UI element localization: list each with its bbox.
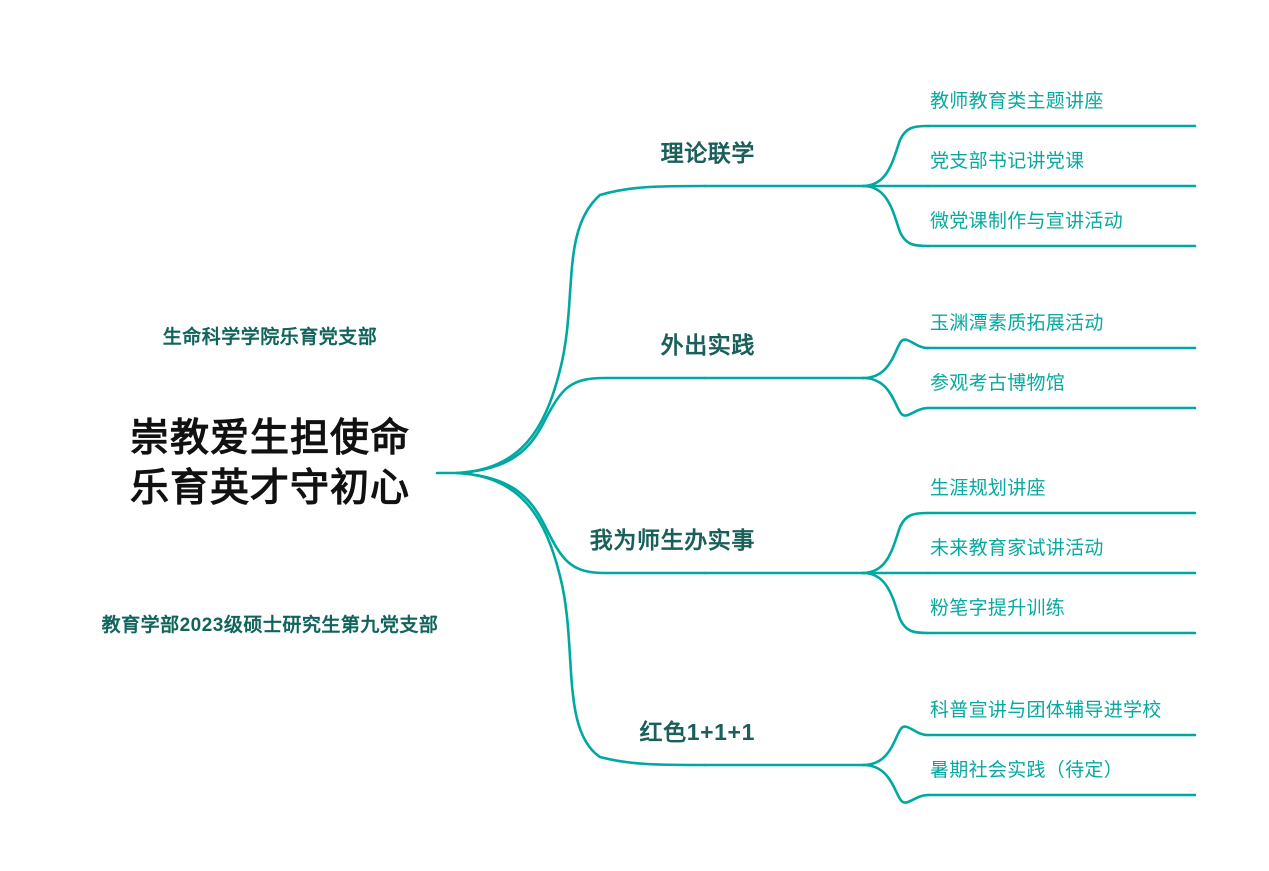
branch-label-1-text: 理论联学 bbox=[661, 140, 755, 166]
leaf-label-4-2[interactable]: 暑期社会实践（待定） bbox=[930, 755, 1123, 782]
branch-label-2[interactable]: 外出实践 bbox=[485, 326, 755, 360]
subtitle-top-text: 生命科学学院乐育党支部 bbox=[163, 327, 378, 348]
mindmap-canvas: 生命科学学院乐育党支部 崇教爱生担使命 乐育英才守初心 教育学部2023级硕士研… bbox=[0, 0, 1269, 871]
branch-label-4-text: 红色1+1+1 bbox=[640, 719, 755, 745]
edge-branch-2-leaf-1 bbox=[863, 340, 928, 378]
leaf-label-2-1-text: 玉渊潭素质拓展活动 bbox=[930, 313, 1104, 334]
branch-label-3[interactable]: 我为师生办实事 bbox=[485, 521, 755, 555]
root-title-line-2: 乐育英才守初心 bbox=[100, 464, 440, 514]
leaf-label-3-3-text: 粉笔字提升训练 bbox=[930, 598, 1065, 619]
edge-branch-3-leaf-3 bbox=[863, 573, 928, 633]
edge-branch-4-leaf-1 bbox=[863, 727, 928, 765]
leaf-label-1-3[interactable]: 微党课制作与宣讲活动 bbox=[930, 206, 1123, 233]
branch-label-1[interactable]: 理论联学 bbox=[485, 134, 755, 168]
edge-branch-1-leaf-1 bbox=[863, 126, 928, 186]
leaf-label-2-2-text: 参观考古博物馆 bbox=[930, 373, 1065, 394]
leaf-label-2-2[interactable]: 参观考古博物馆 bbox=[930, 368, 1065, 395]
edge-branch-1-leaf-3 bbox=[863, 186, 928, 246]
leaf-label-2-1[interactable]: 玉渊潭素质拓展活动 bbox=[930, 308, 1104, 335]
root-title: 崇教爱生担使命 乐育英才守初心 bbox=[100, 414, 440, 514]
subtitle-bottom: 教育学部2023级硕士研究生第九党支部 bbox=[80, 610, 460, 637]
edge-branch-2-leaf-2 bbox=[863, 378, 928, 416]
leaf-label-3-2-text: 未来教育家试讲活动 bbox=[930, 538, 1104, 559]
leaf-label-3-2[interactable]: 未来教育家试讲活动 bbox=[930, 533, 1104, 560]
branch-label-2-text: 外出实践 bbox=[661, 332, 755, 358]
leaf-label-1-1-text: 教师教育类主题讲座 bbox=[930, 91, 1104, 112]
root-title-line-1: 崇教爱生担使命 bbox=[100, 414, 440, 464]
leaf-label-3-1[interactable]: 生涯规划讲座 bbox=[930, 473, 1046, 500]
leaf-label-1-2-text: 党支部书记讲党课 bbox=[930, 151, 1084, 172]
leaf-label-1-2[interactable]: 党支部书记讲党课 bbox=[930, 146, 1084, 173]
leaf-label-1-1[interactable]: 教师教育类主题讲座 bbox=[930, 86, 1104, 113]
leaf-label-4-1-text: 科普宣讲与团体辅导进学校 bbox=[930, 700, 1162, 721]
edge-branch-3-leaf-1 bbox=[863, 513, 928, 573]
leaf-label-1-3-text: 微党课制作与宣讲活动 bbox=[930, 211, 1123, 232]
branch-label-4[interactable]: 红色1+1+1 bbox=[485, 713, 755, 747]
subtitle-top: 生命科学学院乐育党支部 bbox=[100, 322, 440, 349]
leaf-label-3-1-text: 生涯规划讲座 bbox=[930, 478, 1046, 499]
edge-root-branch-2 bbox=[457, 378, 705, 473]
branch-label-3-text: 我为师生办实事 bbox=[590, 527, 755, 553]
leaf-label-4-2-text: 暑期社会实践（待定） bbox=[930, 760, 1123, 781]
subtitle-bottom-text: 教育学部2023级硕士研究生第九党支部 bbox=[102, 615, 439, 636]
leaf-label-4-1[interactable]: 科普宣讲与团体辅导进学校 bbox=[930, 695, 1162, 722]
edge-branch-4-leaf-2 bbox=[863, 765, 928, 803]
leaf-label-3-3[interactable]: 粉笔字提升训练 bbox=[930, 593, 1065, 620]
